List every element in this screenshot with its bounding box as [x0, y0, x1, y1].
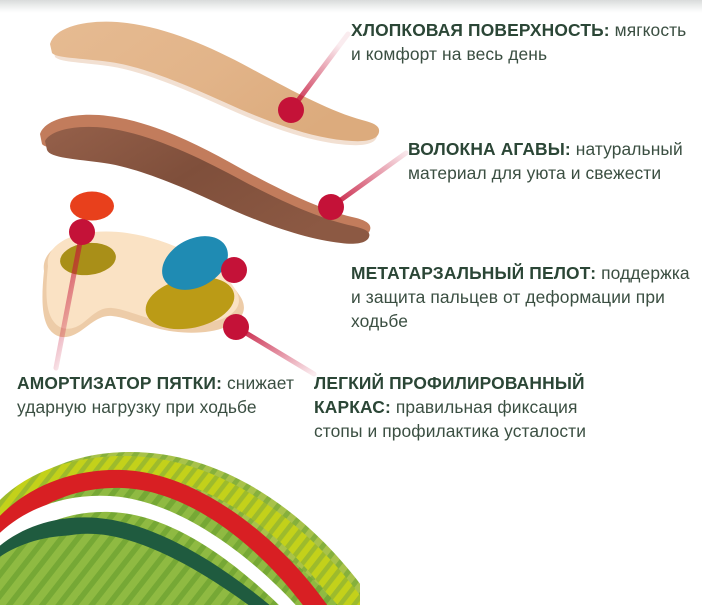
- leader-line-agave: [331, 153, 406, 207]
- agave-layer-body: [45, 127, 369, 244]
- callout-title-heel: АМОРТИЗАТОР ПЯТКИ:: [17, 373, 222, 393]
- callout-title-cotton: ХЛОПКОВАЯ ПОВЕРХНОСТЬ:: [351, 20, 610, 40]
- marker-dot-frame[interactable]: [223, 314, 249, 340]
- callout-cotton-surface: ХЛОПКОВАЯ ПОВЕРХНОСТЬ: мягкость и комфор…: [351, 18, 696, 66]
- callout-heel-shock-absorber: АМОРТИЗАТОР ПЯТКИ: снижает ударную нагру…: [17, 371, 307, 419]
- detached-orange-pad: [70, 192, 114, 221]
- callout-light-profiled-frame: ЛЕГКИЙ ПРОФИЛИРОВАННЫЙ КАРКАС: правильна…: [314, 371, 614, 443]
- green-field-ribbon: [0, 452, 380, 605]
- leader-line-frame: [236, 327, 314, 374]
- marker-dot-heel[interactable]: [69, 219, 95, 245]
- callout-metatarsal-pad: МЕТАТАРЗАЛЬНЫЙ ПЕЛОТ: поддержка и защита…: [351, 261, 701, 333]
- callout-agave-fibers: ВОЛОКНА АГАВЫ: натуральный материал для …: [408, 137, 698, 185]
- callout-title-metatarsal: МЕТАТАРЗАЛЬНЫЙ ПЕЛОТ:: [351, 263, 596, 283]
- infographic-canvas: ХЛОПКОВАЯ ПОВЕРХНОСТЬ: мягкость и комфор…: [0, 0, 702, 605]
- callout-title-agave: ВОЛОКНА АГАВЫ:: [408, 139, 571, 159]
- leader-line-cotton: [291, 34, 348, 110]
- marker-dot-cotton[interactable]: [278, 97, 304, 123]
- marker-dot-agave[interactable]: [318, 194, 344, 220]
- marker-dot-metatarsal[interactable]: [221, 257, 247, 283]
